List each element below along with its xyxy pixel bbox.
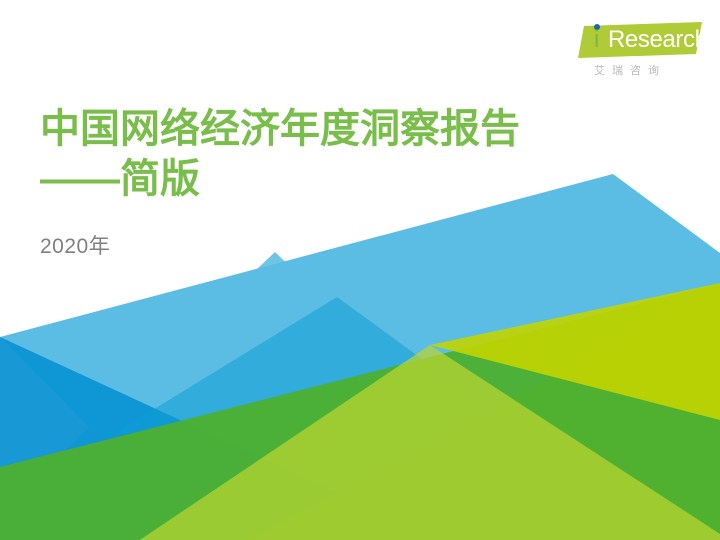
report-year: 2020年 bbox=[40, 204, 640, 260]
logo-wordmark: Research bbox=[608, 27, 708, 53]
title-block: 中国网络经济年度洞察报告 ——简版 2020年 bbox=[40, 104, 640, 260]
logo-chinese-name: 艾瑞咨询 bbox=[594, 62, 666, 78]
logo-initial: i bbox=[594, 27, 599, 53]
cover-slide: i Research 艾瑞咨询 中国网络经济年度洞察报告 ——简版 2020年 bbox=[0, 0, 720, 540]
iresearch-logo: i Research 艾瑞咨询 bbox=[578, 22, 702, 84]
page-title: 中国网络经济年度洞察报告 ——简版 bbox=[40, 104, 640, 204]
logo-mark: i Research bbox=[578, 22, 702, 60]
